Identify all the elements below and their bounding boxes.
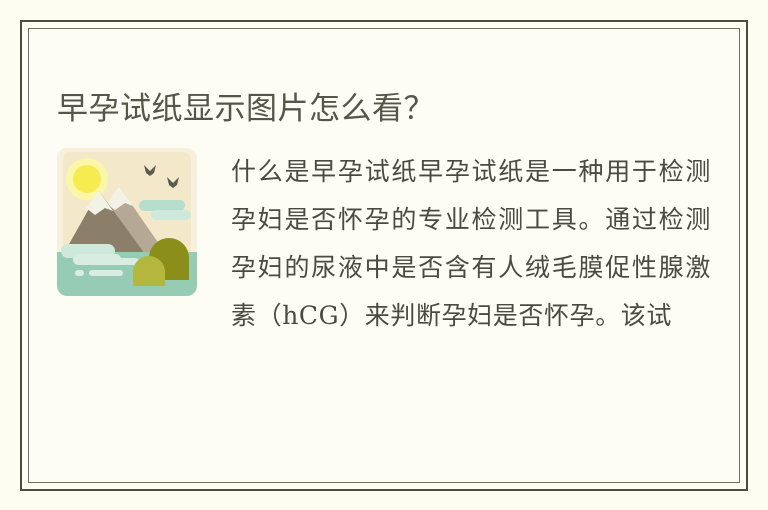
water-ripple [75,270,84,276]
article-body: 什么是早孕试纸早孕试纸是一种用于检测孕妇是否怀孕的专业检测工具。通过检测孕妇的尿… [57,148,711,390]
water-ripple [89,270,123,276]
page-title: 早孕试纸显示图片怎么看？ [57,90,435,128]
article-page: 早孕试纸显示图片怎么看？ [0,0,768,510]
cloud-shape [139,200,185,211]
water-ripple [113,258,139,265]
article-body-text: 什么是早孕试纸早孕试纸是一种用于检测孕妇是否怀孕的专业检测工具。通过检测孕妇的尿… [231,148,711,390]
article-card: 早孕试纸显示图片怎么看？ [29,29,739,482]
landscape-placeholder-image [57,148,197,296]
cloud-shape [151,210,191,220]
sun-icon [73,165,101,193]
